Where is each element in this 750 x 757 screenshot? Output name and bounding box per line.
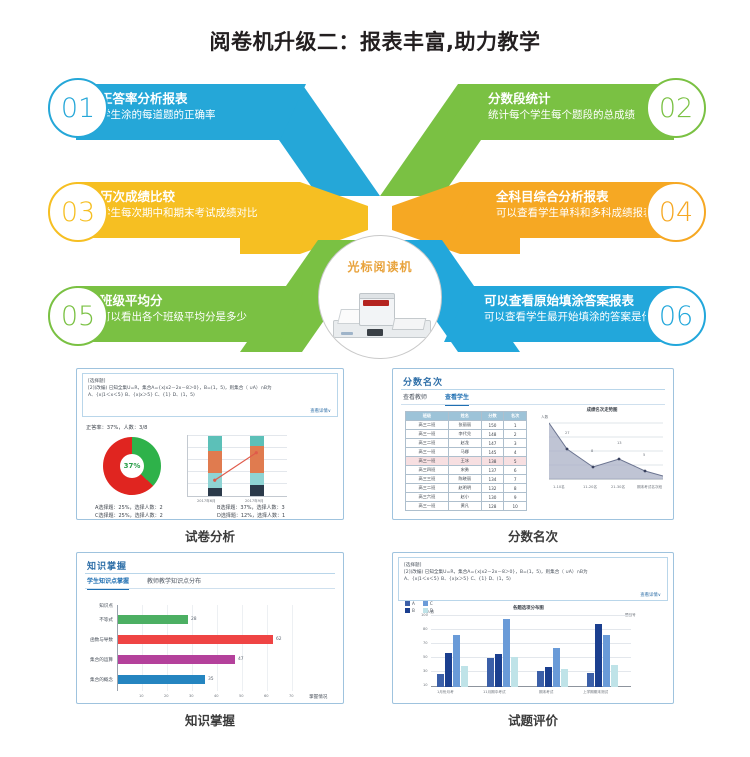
omr-panel bbox=[341, 332, 353, 335]
omr-output-tray bbox=[392, 318, 427, 330]
question-box: [选择题] [2](改编) 已知全集U=R，集合A={x|x2－2x－8＞0}，… bbox=[398, 557, 668, 601]
panel-item-eval[interactable]: [选择题] [2](改编) 已知全集U=R，集合A={x|x2－2x－8＞0}，… bbox=[392, 552, 674, 704]
legend-swatch-b bbox=[405, 608, 410, 613]
feature-text: 分数段统计 统计每个学生每个题段的总成绩 bbox=[488, 91, 635, 123]
feature-text: 班级平均分 可以看出各个班级平均分是多少 bbox=[100, 293, 247, 325]
panel-score-rank[interactable]: 分数名次 查看教师 查看学生 班级 姓名 分数 名次 高三二班张丽丽1501 高… bbox=[392, 368, 674, 520]
col-score: 分数 bbox=[481, 412, 504, 421]
table-row[interactable]: 高三一班黄凡12810 bbox=[406, 502, 527, 511]
bar-g4-c bbox=[603, 635, 610, 687]
feature-number-text: 05 bbox=[61, 303, 95, 330]
feature-item-03[interactable]: 历次成绩比较 学生每次期中和期末考试成绩对比 bbox=[76, 182, 300, 238]
feature-title: 分数段统计 bbox=[488, 91, 635, 107]
view-detail-link[interactable]: 查看详情∨ bbox=[640, 592, 661, 598]
point-label: 5 bbox=[643, 453, 645, 457]
panel-header-title: 分数名次 bbox=[403, 375, 443, 388]
bar-g2-a bbox=[487, 658, 494, 687]
feature-sub: 可以查看学生最开始填涂的答案是什么 bbox=[484, 310, 663, 325]
y-tick-10: 10 bbox=[423, 683, 428, 687]
poster-root: 阅卷机升级二：报表丰富,助力教学 正答率分析报表 学生涂的每道题的正确率 01 bbox=[0, 0, 750, 757]
feature-number-02: 02 bbox=[646, 78, 706, 138]
feature-sub: 学生涂的每道题的正确率 bbox=[100, 108, 216, 123]
x-axis-label: 期末考试名次段 bbox=[637, 485, 662, 490]
feature-number-text: 04 bbox=[659, 199, 693, 226]
col-class: 班级 bbox=[406, 412, 449, 421]
score-rank-table[interactable]: 班级 姓名 分数 名次 高三二班张丽丽1501 高三一班李代兑1482 高三二班… bbox=[405, 411, 527, 511]
bar-label-set-concept: 集合的概念 bbox=[77, 677, 113, 683]
bar-value-set-concept: 35 bbox=[208, 677, 214, 682]
table-row-highlighted[interactable]: 高三一班王冰1385 bbox=[406, 457, 527, 466]
feature-item-04[interactable]: 全科目综合分析报表 可以查看学生单科和多科成绩报表 bbox=[452, 182, 674, 238]
legend-label-a: A bbox=[412, 601, 415, 606]
x-tick-label: 20 bbox=[164, 694, 169, 698]
feature-text: 可以查看原始填涂答案报表 可以查看学生最开始填涂的答案是什么 bbox=[484, 293, 663, 325]
feature-title: 可以查看原始填涂答案报表 bbox=[484, 293, 663, 309]
feature-diagram: 正答率分析报表 学生涂的每道题的正确率 01 分数段统计 统计每个学生每个题段的… bbox=[0, 78, 750, 358]
y-tick-100: 100 bbox=[421, 613, 428, 617]
bar-g3-c bbox=[553, 648, 560, 687]
feature-number-05: 05 bbox=[48, 286, 108, 346]
item-eval-bar-chart bbox=[431, 615, 631, 687]
center-device-circle: 光标阅读机 bbox=[318, 235, 442, 359]
page-title: 阅卷机升级二：报表丰富,助力教学 bbox=[0, 26, 750, 56]
question-tag: [选择题] bbox=[88, 378, 332, 385]
feature-item-02[interactable]: 分数段统计 统计每个学生每个题段的总成绩 bbox=[444, 84, 674, 140]
bar-value-set-ops: 47 bbox=[238, 657, 244, 662]
y-tick-50: 50 bbox=[423, 655, 428, 659]
legend-item-b: B bbox=[405, 608, 415, 613]
feature-number-03: 03 bbox=[48, 182, 108, 242]
bar-g2-d bbox=[511, 657, 518, 687]
feature-item-06[interactable]: 可以查看原始填涂答案报表 可以查看学生最开始填涂的答案是什么 bbox=[444, 286, 674, 342]
header-divider bbox=[401, 389, 665, 390]
bar-g4-b bbox=[595, 624, 602, 687]
x-tick-label: 40 bbox=[214, 694, 219, 698]
feature-text: 正答率分析报表 学生涂的每道题的正确率 bbox=[100, 91, 216, 123]
panel-knowledge[interactable]: 知识掌握 学生知识点掌握 教师教学知识点分布 知识点 bbox=[76, 552, 344, 704]
tabs-divider bbox=[401, 404, 665, 405]
bar-g4-a bbox=[587, 673, 594, 687]
chart-title: 成绩名次走势图 bbox=[541, 407, 663, 413]
feature-number-01: 01 bbox=[48, 78, 108, 138]
bar-g2-c bbox=[503, 619, 510, 687]
panel-caption-item-eval: 试题评价 bbox=[392, 710, 674, 729]
point-label: 8 bbox=[591, 449, 593, 453]
bar-g1-d bbox=[461, 666, 468, 687]
bar-g2-b bbox=[495, 654, 502, 687]
feature-sub: 学生每次期中和期末考试成绩对比 bbox=[100, 206, 258, 221]
x-tick-label: 10 bbox=[139, 694, 144, 698]
center-label: 光标阅读机 bbox=[319, 258, 441, 275]
bar-function-derivative bbox=[118, 635, 273, 644]
legend-item-c: C bbox=[423, 601, 433, 606]
omr-body-top bbox=[359, 293, 395, 299]
table-row[interactable]: 高三三班陈晓丽1347 bbox=[406, 475, 527, 484]
x-tick-g1: 1月份月考 bbox=[437, 690, 454, 695]
stacked-column-chart bbox=[187, 435, 287, 497]
feature-title: 班级平均分 bbox=[100, 293, 247, 309]
bar-label-function: 函数与导数 bbox=[77, 637, 113, 643]
feature-item-05[interactable]: 班级平均分 可以看出各个班级平均分是多少 bbox=[76, 286, 306, 342]
rank-trend-area-chart: 成绩名次走势图 人数 27 bbox=[541, 407, 663, 495]
x-axis-label: 掌握情况 bbox=[309, 694, 327, 700]
bar-label-inequality: 不等式 bbox=[77, 617, 113, 623]
bar-g4-d bbox=[611, 665, 618, 687]
omr-screen bbox=[367, 329, 383, 336]
panel-caption-knowledge: 知识掌握 bbox=[76, 710, 344, 729]
feature-number-text: 03 bbox=[61, 199, 95, 226]
tabs-divider bbox=[85, 588, 335, 589]
bar-inequality bbox=[118, 615, 188, 624]
table-row[interactable]: 高三一班李代兑1482 bbox=[406, 430, 527, 439]
x-tick-g4: 上学期期末测试 bbox=[583, 690, 608, 695]
panel-frame: 知识掌握 学生知识点掌握 教师教学知识点分布 知识点 bbox=[76, 552, 344, 704]
panel-frame: [选择题] [2](改编) 已知全集U=R，集合A={x|x2－2x－8＞0}，… bbox=[76, 368, 344, 520]
question-line-2: A、{x|1＜x＜5} B、{x|x＞5} C、{1} D、(1，5) bbox=[88, 392, 332, 399]
answer-stat-c: C选择题：25%，选择人数：2 bbox=[95, 512, 163, 519]
feature-number-text: 01 bbox=[61, 95, 95, 122]
panel-frame: [选择题] [2](改编) 已知全集U=R，集合A={x|x2－2x－8＞0}，… bbox=[392, 552, 674, 704]
answer-stat-d: D选择题：12%，选择人数：1 bbox=[217, 512, 285, 519]
y-tick-70: 70 bbox=[423, 641, 428, 645]
y-axis-label: 知识点 bbox=[83, 603, 113, 609]
question-line-1: [2](改编) 已知全集U=R，集合A={x|x2－2x－8＞0}，B=(1，5… bbox=[88, 385, 332, 392]
question-line-2: A、{x|1＜x＜5} B、{x|x＞5} C、{1} D、(1，5) bbox=[404, 576, 662, 583]
answer-stat-a: A选择题：25%，选择人数：2 bbox=[95, 504, 163, 511]
point-label: 27 bbox=[565, 431, 570, 435]
chart-legend: A C bbox=[405, 601, 433, 606]
feature-number-04: 04 bbox=[646, 182, 706, 242]
bar-g1-c bbox=[453, 635, 460, 687]
question-line-1: [2](改编) 已知全集U=R，集合A={x|x2－2x－8＞0}，B=(1，5… bbox=[404, 569, 662, 576]
table-header-row: 班级 姓名 分数 名次 bbox=[406, 412, 527, 421]
omr-brand-bar bbox=[363, 300, 389, 306]
legend-label-b: B bbox=[412, 608, 415, 613]
donut-center-value: 37% bbox=[120, 454, 144, 478]
x-tick-label: 60 bbox=[264, 694, 269, 698]
feature-title: 全科目综合分析报表 bbox=[496, 189, 654, 205]
table-row[interactable]: 高三二班赵明明1328 bbox=[406, 484, 527, 493]
x-tick-label: 70 bbox=[289, 694, 294, 698]
feature-number-06: 06 bbox=[646, 286, 706, 346]
screenshot-grid: [选择题] [2](改编) 已知全集U=R，集合A={x|x2－2x－8＞0}，… bbox=[0, 362, 750, 742]
knowledge-bar-chart bbox=[117, 605, 317, 691]
panel-caption-score-rank: 分数名次 bbox=[392, 526, 674, 545]
y-axis-label: 人数 bbox=[541, 415, 548, 420]
x-tick-label: 1-10名 bbox=[553, 485, 565, 490]
bar-g3-a bbox=[537, 671, 544, 687]
panel-header-title: 知识掌握 bbox=[87, 559, 127, 572]
trend-line bbox=[188, 435, 287, 496]
bar-value-function: 62 bbox=[276, 637, 282, 642]
bar-set-operations bbox=[118, 655, 235, 664]
answer-stat-b: B选择题：37%，选择人数：3 bbox=[217, 504, 285, 511]
feature-number-text: 02 bbox=[659, 95, 693, 122]
view-detail-link[interactable]: 查看详情∨ bbox=[310, 408, 331, 414]
feature-title: 正答率分析报表 bbox=[100, 91, 216, 107]
col-name: 姓名 bbox=[448, 412, 481, 421]
bar-value-inequality: 28 bbox=[191, 617, 197, 622]
table-row[interactable]: 高三二班赵龙1473 bbox=[406, 439, 527, 448]
bar-label-set-ops: 集合的运算 bbox=[77, 657, 113, 663]
bar-g3-d bbox=[561, 669, 568, 687]
bar-g1-b bbox=[445, 653, 452, 687]
bar-set-concepts bbox=[118, 675, 205, 684]
correct-ratio-donut: 37% bbox=[103, 437, 161, 495]
feature-text: 历次成绩比较 学生每次期中和期末考试成绩对比 bbox=[100, 189, 258, 221]
feature-number-text: 06 bbox=[659, 303, 693, 330]
feature-text: 全科目综合分析报表 可以查看学生单科和多科成绩报表 bbox=[496, 189, 654, 221]
header-divider bbox=[85, 573, 335, 574]
feature-title: 历次成绩比较 bbox=[100, 189, 258, 205]
y-tick-30: 30 bbox=[423, 669, 428, 673]
y-tick-80: 80 bbox=[423, 627, 428, 631]
x-tick-label: 2017年6月 bbox=[197, 499, 216, 504]
legend-swatch-c bbox=[423, 601, 428, 606]
feature-item-01[interactable]: 正答率分析报表 学生涂的每道题的正确率 bbox=[76, 84, 306, 140]
panel-exam-analysis[interactable]: [选择题] [2](改编) 已知全集U=R，集合A={x|x2－2x－8＞0}，… bbox=[76, 368, 344, 520]
panel-frame: 分数名次 查看教师 查看学生 班级 姓名 分数 名次 高三二班张丽丽1501 高… bbox=[392, 368, 674, 520]
bar-g3-b bbox=[545, 667, 552, 687]
question-tag: [选择题] bbox=[404, 562, 662, 569]
panel-caption-exam-analysis: 试卷分析 bbox=[76, 526, 344, 545]
feature-sub: 可以看出各个班级平均分是多少 bbox=[100, 310, 247, 325]
x-tick-label: 50 bbox=[239, 694, 244, 698]
legend-swatch-a bbox=[405, 601, 410, 606]
col-rank: 名次 bbox=[504, 412, 527, 421]
correct-ratio-text: 正答率：37%，人数：3/8 bbox=[86, 424, 147, 431]
legend-label-c: C bbox=[430, 601, 433, 606]
question-box: [选择题] [2](改编) 已知全集U=R，集合A={x|x2－2x－8＞0}，… bbox=[82, 373, 338, 417]
x-tick-label: 11-20名 bbox=[583, 485, 597, 490]
feature-sub: 统计每个学生每个题段的总成绩 bbox=[488, 108, 635, 123]
x-tick-label: 21-30名 bbox=[611, 485, 625, 490]
feature-sub: 可以查看学生单科和多科成绩报表 bbox=[496, 206, 654, 221]
legend-item-a: A bbox=[405, 601, 415, 606]
chart-title: 各题选项分布图 bbox=[513, 605, 544, 611]
x-tick-g3: 期末考试 bbox=[539, 690, 553, 695]
table-row[interactable]: 高三四班宋勇1376 bbox=[406, 466, 527, 475]
table-row[interactable]: 高三二班张丽丽1501 bbox=[406, 421, 527, 430]
bar-g1-a bbox=[437, 674, 444, 687]
x-tick-g2: 11月期中考试 bbox=[483, 690, 506, 695]
x-tick-label: 30 bbox=[189, 694, 194, 698]
point-label: 13 bbox=[617, 441, 622, 445]
table-row[interactable]: 高三一班马娜1454 bbox=[406, 448, 527, 457]
table-row[interactable]: 高三六班赵小1309 bbox=[406, 493, 527, 502]
omr-machine-icon bbox=[333, 288, 429, 340]
